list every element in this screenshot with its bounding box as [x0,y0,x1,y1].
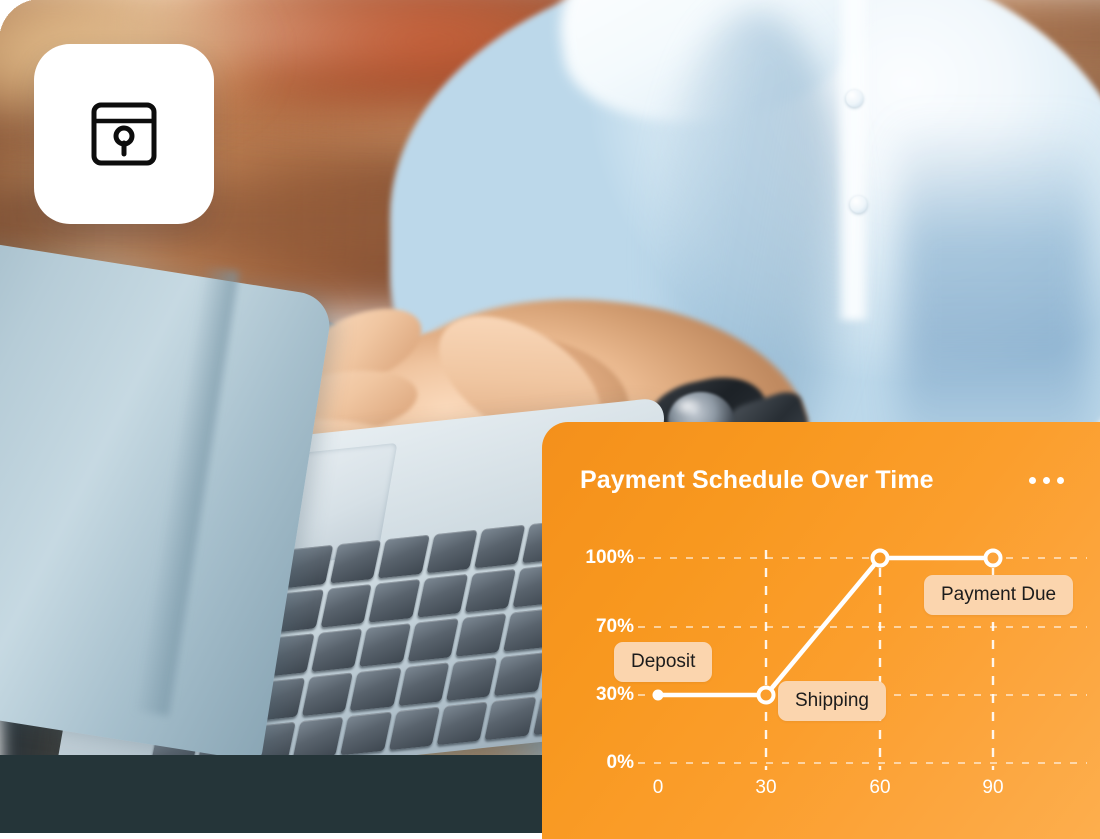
annotation-shipping[interactable]: Shipping [778,681,886,721]
data-point-0 [653,690,664,701]
secure-payment-badge-tile[interactable] [34,44,214,224]
payment-schedule-card: Payment Schedule Over Time 100% 70% 30% … [542,422,1100,839]
corner-mask-top-left [0,0,43,43]
annotation-payment-due[interactable]: Payment Due [924,575,1073,615]
screenshot-root: Payment Schedule Over Time 100% 70% 30% … [0,0,1100,839]
data-point-30 [759,688,774,703]
annotation-deposit[interactable]: Deposit [614,642,712,682]
data-point-60 [873,551,888,566]
photo-shirt-placket [836,0,872,320]
data-point-90 [986,551,1001,566]
secure-payment-vault-icon [88,98,160,170]
photo-shirt-button-1 [846,90,863,107]
line-chart: 100% 70% 30% 0% 0 30 60 90 [542,422,1100,839]
footer-dark-bar [0,755,542,833]
footer-white-strip [0,833,542,839]
photo-shirt-button-2 [850,196,867,213]
chart-canvas [542,422,1100,839]
photo-watch-glass-reflection [672,396,702,416]
